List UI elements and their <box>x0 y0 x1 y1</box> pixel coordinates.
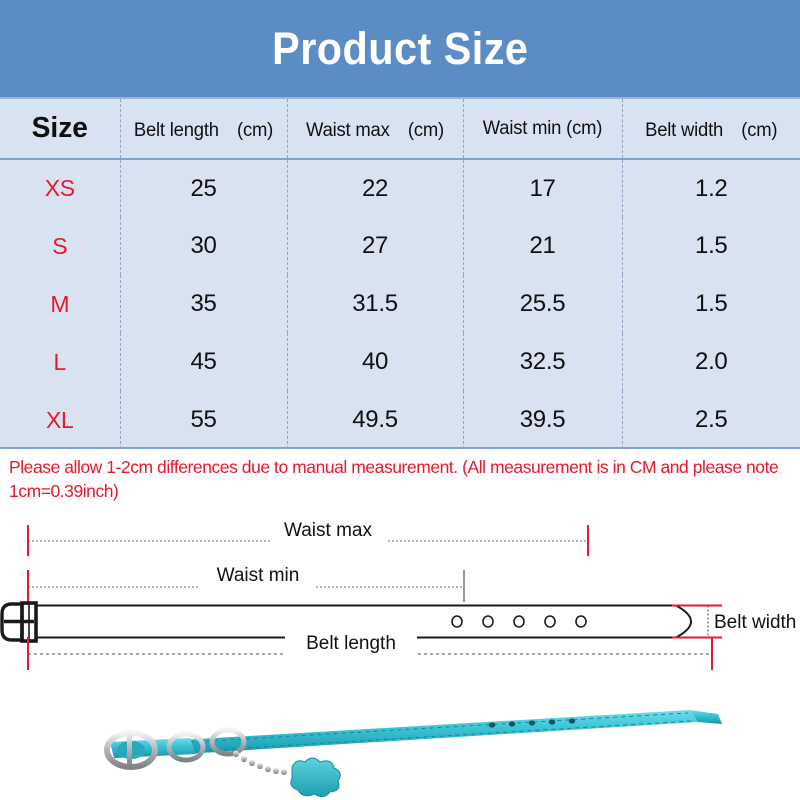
waist-max-dimension: Waist max <box>28 520 588 556</box>
waist-min-dimension: Waist min <box>28 565 464 602</box>
column-header-belt-width: Belt width (cm) <box>625 99 798 159</box>
belt-hole <box>545 616 555 627</box>
table-row: S 30 27 21 1.5 <box>0 217 800 275</box>
column-header-belt-length: Belt length (cm) <box>123 99 285 159</box>
cell-waist-min: 32.5 <box>463 333 622 391</box>
waist-min-label: Waist min <box>217 565 300 586</box>
belt-width-label: Belt width <box>714 612 796 633</box>
column-header-waist-max: Waist max (cm) <box>290 99 461 159</box>
cell-belt-width: 1.2 <box>622 159 800 217</box>
cell-size: M <box>0 275 120 333</box>
cell-belt-length: 35 <box>120 275 287 333</box>
size-table-header: Size Belt length (cm) Waist max (cm) Wai… <box>0 99 800 159</box>
belt-length-label: Belt length <box>306 633 396 654</box>
belt-hole <box>483 616 493 627</box>
cell-waist-max: 22 <box>287 159 463 217</box>
cell-waist-min: 39.5 <box>463 391 622 449</box>
buckle-prong <box>127 732 132 766</box>
belt-hole <box>576 616 586 627</box>
collar-hole <box>569 718 575 723</box>
belt-hole <box>452 616 462 627</box>
cell-size: XL <box>0 391 120 449</box>
collar-hole <box>489 722 495 727</box>
product-photo <box>0 684 800 800</box>
cell-waist-max: 27 <box>287 217 463 275</box>
cell-waist-max: 31.5 <box>287 275 463 333</box>
size-table-container: Size Belt length (cm) Waist max (cm) Wai… <box>0 97 800 449</box>
cell-belt-width: 2.0 <box>622 333 800 391</box>
table-row: XL 55 49.5 39.5 2.5 <box>0 391 800 449</box>
cell-waist-min: 25.5 <box>463 275 622 333</box>
table-row: M 35 31.5 25.5 1.5 <box>0 275 800 333</box>
cell-belt-width: 1.5 <box>622 275 800 333</box>
cell-belt-length: 25 <box>120 159 287 217</box>
cell-waist-min: 17 <box>463 159 622 217</box>
cell-size: S <box>0 217 120 275</box>
column-header-size: Size <box>2 99 118 159</box>
belt-hole <box>514 616 524 627</box>
header-row: Size Belt length (cm) Waist max (cm) Wai… <box>0 99 800 159</box>
cell-belt-length: 30 <box>120 217 287 275</box>
dog-charm-tag <box>291 758 340 797</box>
belt-measurement-diagram: Waist max Waist min <box>0 508 800 683</box>
page-title: Product Size <box>272 26 528 71</box>
cell-belt-length: 55 <box>120 391 287 449</box>
product-size-banner: Product Size <box>0 0 800 97</box>
size-table-body: XS 25 22 17 1.2 S 30 27 21 1.5 M 35 31.5… <box>0 159 800 449</box>
cell-waist-max: 49.5 <box>287 391 463 449</box>
measurement-disclaimer: Please allow 1-2cm differences due to ma… <box>9 455 789 503</box>
column-header-waist-min: Waist min (cm) <box>465 99 619 159</box>
cell-size: L <box>0 333 120 391</box>
table-row: L 45 40 32.5 2.0 <box>0 333 800 391</box>
cell-belt-width: 2.5 <box>622 391 800 449</box>
cell-belt-length: 45 <box>120 333 287 391</box>
cell-waist-max: 40 <box>287 333 463 391</box>
collar-hole <box>529 720 535 725</box>
collar-hole <box>549 719 555 724</box>
cell-waist-min: 21 <box>463 217 622 275</box>
waist-max-label: Waist max <box>284 520 372 541</box>
cell-belt-width: 1.5 <box>622 217 800 275</box>
table-row: XS 25 22 17 1.2 <box>0 159 800 217</box>
collar-hole <box>509 721 515 726</box>
size-table: Size Belt length (cm) Waist max (cm) Wai… <box>0 99 800 449</box>
cell-size: XS <box>0 159 120 217</box>
